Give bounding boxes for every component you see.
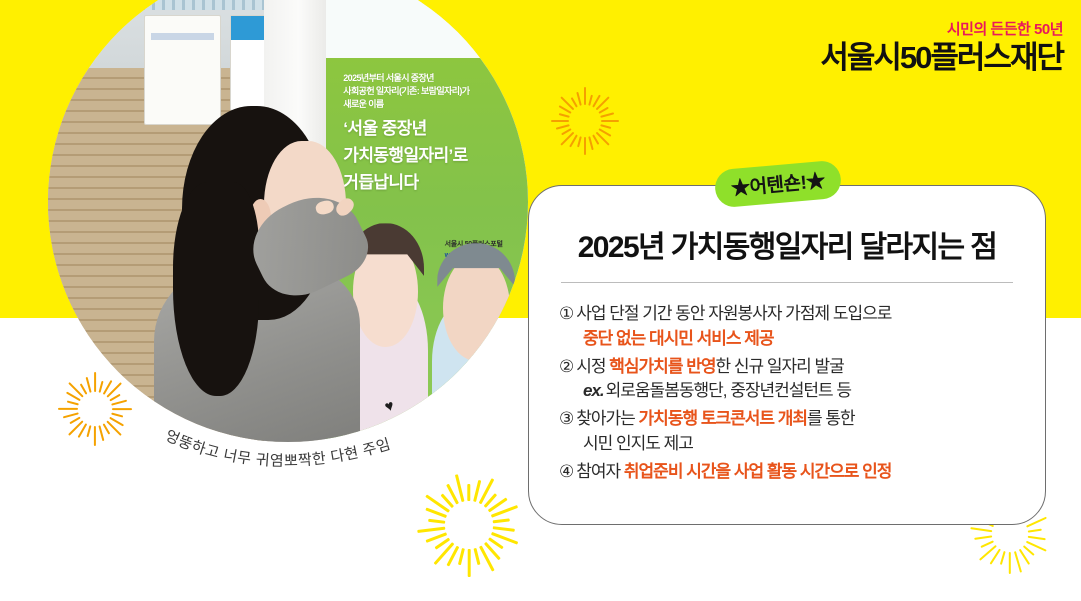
brand-lockup: 시민의 든든한 50년 서울시50플러스재단 (820, 22, 1063, 73)
list-item: ①사업 단절 기간 동안 자원봉사자 가점제 도입으로 중단 없는 대시민 서비… (559, 301, 1015, 352)
example-text: 외로움돌봄동행단, 중장년컨설턴트 등 (606, 381, 851, 400)
list-item-number: ④ (559, 462, 573, 481)
banner-logo-main-b: 동행 (406, 0, 440, 2)
banner-line-2: 사회공헌 일자리(기존: 보람일자리)가 (343, 85, 525, 98)
banner-top-area: 서울 중장년 가치동행일자리 (326, 0, 528, 58)
list-item: ③찾아가는 가치동행 토크콘서트 개최를 통한 시민 인지도 제고 (559, 406, 1015, 457)
list-item-number: ② (559, 357, 573, 376)
banner-logo-main-a: 가치 (373, 0, 407, 2)
list-item-suffix: 한 신규 일자리 발굴 (715, 357, 843, 376)
list-item-text: 사업 단절 기간 동안 자원봉사자 가점제 도입으로 (576, 304, 891, 323)
list-item-number: ③ (559, 409, 573, 428)
brand-title: 서울시50플러스재단 (820, 42, 1063, 73)
card-divider (561, 282, 1013, 283)
list-item-highlight: 핵심가치를 반영 (609, 357, 715, 376)
example-label: ex. (583, 381, 604, 400)
photo-scene: 서울 중장년 가치동행일자리 2025년부터 서울시 중장년 사회공헌 일자리(… (48, 0, 528, 442)
list-item-highlight: 취업준비 시간을 사업 활동 시간으로 인정 (624, 462, 892, 481)
list-item-example: ex.외로움돌봄동행단, 중장년컨설턴트 등 (559, 378, 1015, 404)
brand-kicker: 시민의 든든한 50년 (820, 22, 1063, 37)
woman-hair-side (173, 182, 259, 396)
banner-logo: 서울 중장년 가치동행일자리 (339, 0, 525, 3)
banner-logo-main: 가치동행일자리 (339, 0, 525, 3)
list-item-subline: 중단 없는 대시민 서비스 제공 (559, 326, 1015, 352)
poster-stage: 시민의 든든한 50년 서울시50플러스재단 서울 중장년 가치동행일자리 (0, 0, 1081, 601)
list-item-prefix: 찾아가는 (576, 409, 638, 428)
list-item: ④참여자 취업준비 시간을 사업 활동 시간으로 인정 (559, 459, 1015, 485)
list-item-prefix: 참여자 (576, 462, 624, 481)
banner-line-1: 2025년부터 서울시 중장년 (343, 72, 525, 85)
banner-model-right (432, 298, 521, 442)
banner-logo-main-c: 일자리 (440, 0, 491, 2)
list-item-subline: 시민 인지도 제고 (559, 431, 1015, 457)
woman-hand-lower (315, 198, 335, 215)
list-item-suffix: 를 통한 (807, 409, 855, 428)
circular-photo: 서울 중장년 가치동행일자리 2025년부터 서울시 중장년 사회공헌 일자리(… (48, 0, 528, 442)
list-item-prefix: 시정 (576, 357, 609, 376)
list-item-highlight: 가치동행 토크콘서트 개최 (639, 409, 808, 428)
list-item: ②시정 핵심가치를 반영한 신규 일자리 발굴 ex.외로움돌봄동행단, 중장년… (559, 354, 1015, 405)
info-card: ★어텐숀!★ 2025년 가치동행일자리 달라지는 점 ①사업 단절 기간 동안… (528, 185, 1046, 525)
list-item-number: ① (559, 304, 573, 323)
card-title: 2025년 가치동행일자리 달라지는 점 (559, 212, 1015, 266)
photo-woman (154, 106, 394, 442)
changes-list: ①사업 단절 기간 동안 자원봉사자 가점제 도입으로 중단 없는 대시민 서비… (559, 301, 1015, 485)
